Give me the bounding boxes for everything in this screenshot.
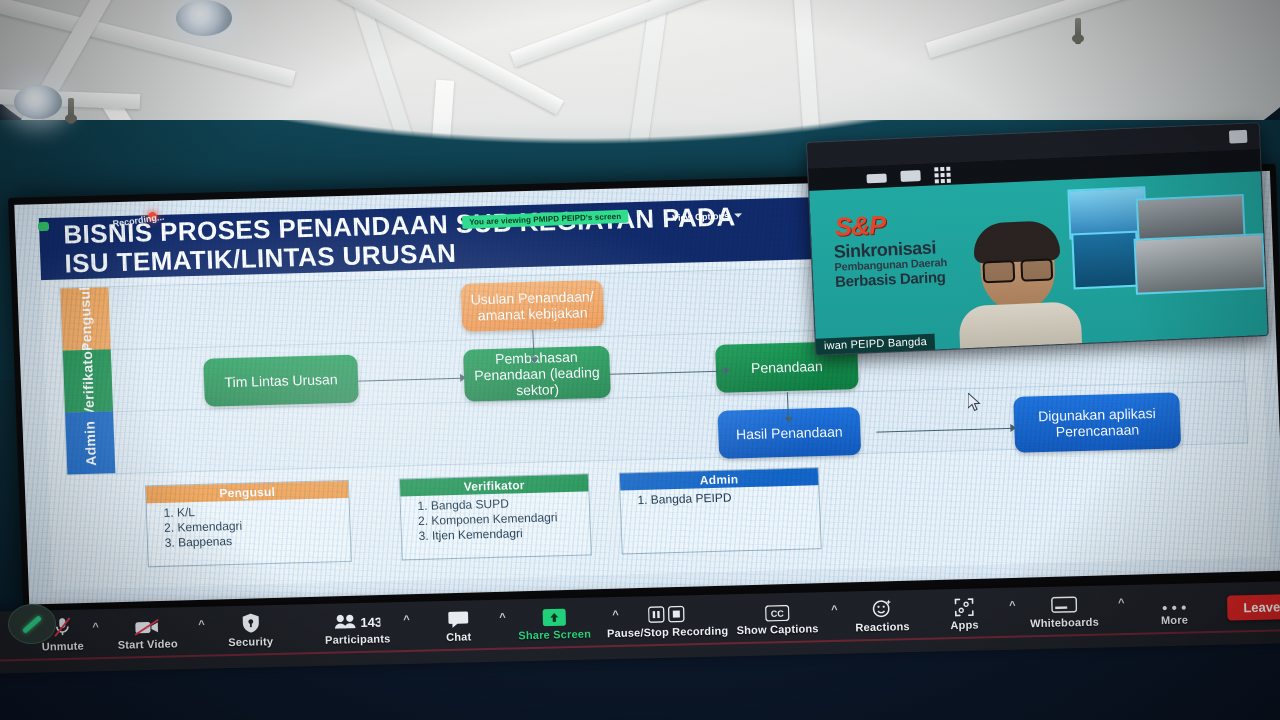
arrow-right-icon [1010,424,1016,432]
minimize-icon[interactable] [866,174,886,184]
arrow-right-icon [724,367,730,375]
node-digunakan-aplikasi: Digunakan aplikasi Perencanaan [1013,392,1181,452]
sprinkler-icon [1075,18,1081,44]
toolbar-label: Reactions [855,621,910,634]
swimlane-label-pengusul: Pengusul [60,287,110,350]
toolbar-label: Apps [950,619,979,632]
speech-bubble-icon [448,607,469,629]
pause-stop-icon [648,601,687,624]
screen-share-indicator-icon [38,222,49,231]
sprinkler-icon [68,98,74,124]
chevron-down-icon [734,213,742,217]
swimlane-label-verifikator: Verifikator [63,349,113,412]
people-icon: 143 [334,609,381,632]
background-photo-collage [1067,177,1262,305]
arrow-down-icon [530,358,538,364]
toolbar-label: Unmute [42,641,84,654]
participant-avatar [951,223,1086,349]
legend-title-admin: Admin [620,468,819,490]
legend-list-pengusul: K/L Kemendagri Bappenas [147,501,351,551]
toolbar-chat-button[interactable]: Chat [403,605,514,645]
legend-verifikator: Verifikator Bangda SUPD Komponen Kemenda… [399,473,592,560]
toolbar-security-button[interactable]: Security [195,610,306,650]
legend-pengusul: Pengusul K/L Kemendagri Bappenas [145,480,352,567]
cc-icon: CC [765,599,790,622]
toolbar-label: Chat [446,631,472,644]
toolbar-show-captions-button[interactable]: CC Show Captions [722,598,833,638]
video-muted-icon [134,614,161,637]
glasses-icon [982,258,1053,279]
svg-text:CC: CC [771,609,785,619]
toolbar-start-video-button[interactable]: Start Video [92,613,203,653]
arrow-down-icon [785,417,793,423]
gallery-view-icon[interactable] [934,167,951,184]
list-item: Bangda PEIPD [651,488,820,508]
apps-icon [954,595,975,617]
node-pembahasan-penandaan: Pembahasan Penandaan (leading sektor) [463,346,611,402]
toolbar-stop-recording-button[interactable]: Pause/Stop Recording [612,601,723,641]
toolbar-whiteboards-button[interactable]: Whiteboards [1009,591,1120,631]
share-screen-icon [542,604,567,627]
list-item: Bappenas [178,531,351,551]
ceiling-light [14,85,62,119]
toolbar-label: Show Captions [736,623,818,637]
shield-icon [241,611,261,633]
legend-title-pengusul: Pengusul [146,481,349,503]
pen-icon [22,615,42,633]
whiteboard-icon [1051,592,1078,615]
toolbar-label: Pause/Stop Recording [607,625,729,640]
screenshot-scene: BISNIS PROSES PENANDAAN SUB KEGIATAN PAD… [0,0,1280,720]
reactions-icon [872,597,893,619]
toolbar-label: More [1161,615,1188,628]
legend-title-verifikator: Verifikator [400,474,589,496]
ellipsis-icon [1161,590,1188,613]
legend-list-verifikator: Bangda SUPD Komponen Kemendagri Itjen Ke… [401,494,591,544]
node-tim-lintas-urusan: Tim Lintas Urusan [203,355,359,407]
node-usulan-penandaan: Usulan Penandaan/ amanat kebijakan [461,280,605,332]
participant-video-panel[interactable]: S&P Sinkronisasi Pembangunan Daerah Berb… [806,122,1269,356]
ceiling-light [176,0,232,36]
window-control-icon[interactable] [1229,130,1248,144]
legend-list-admin: Bangda PEIPD [621,488,820,508]
toolbar-label: Start Video [118,638,178,651]
legend-admin: Admin Bangda PEIPD [619,467,822,554]
swimlane-label-admin: Admin [65,411,115,474]
leave-meeting-button[interactable]: Leave [1227,594,1280,621]
toolbar-label: Share Screen [518,629,591,643]
toolbar-share-screen-button[interactable]: Share Screen [499,603,610,643]
toolbar-apps-button[interactable]: Apps [909,594,1020,634]
svg-text:143: 143 [360,615,380,631]
sp-logo: S&P [834,210,886,243]
toolbar-label: Participants [325,633,391,647]
speaker-view-icon[interactable] [900,170,920,182]
toolbar-participants-button[interactable]: 143 Participants [302,608,413,648]
node-hasil-penandaan: Hasil Penandaan [717,407,861,459]
toolbar-label: Security [228,636,273,649]
arrow-right-icon [460,374,466,382]
list-item: Itjen Kemendagri [432,524,591,543]
toolbar-more-button[interactable]: More [1119,589,1230,629]
vbg-line3: Berbasis Daring [835,269,946,291]
video-feed: S&P Sinkronisasi Pembangunan Daerah Berb… [809,171,1268,355]
microphone-muted-icon [53,616,72,638]
toolbar-label: Whiteboards [1030,617,1099,631]
